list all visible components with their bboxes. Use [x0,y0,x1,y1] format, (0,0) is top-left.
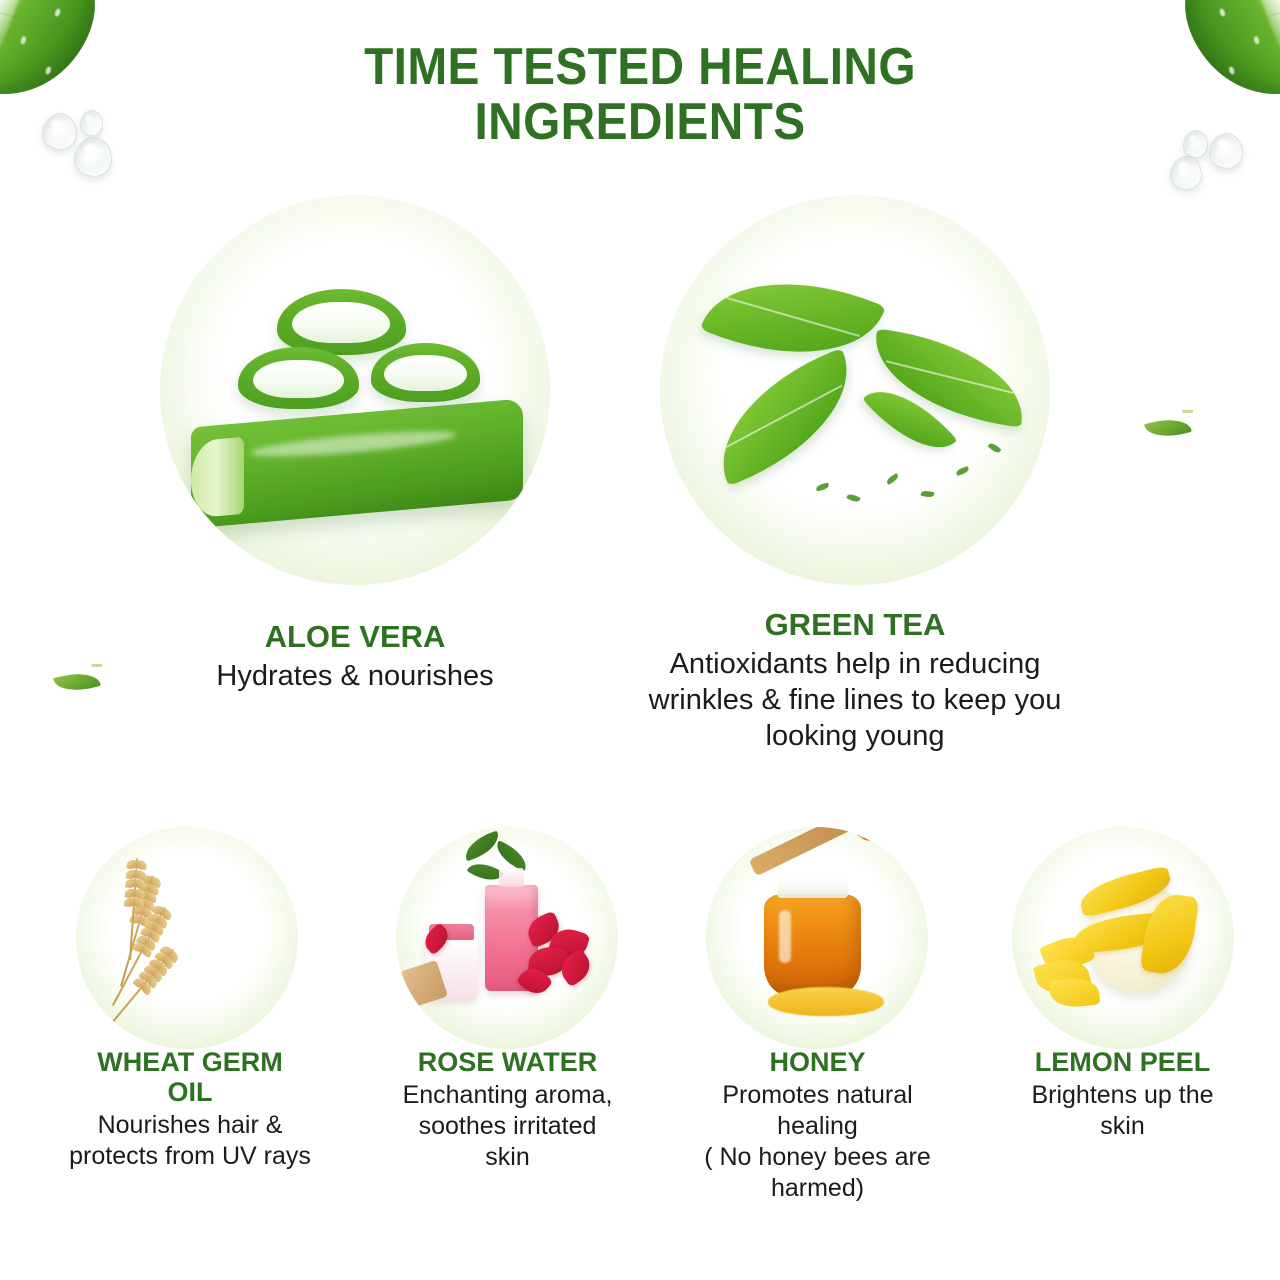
ingredient-caption-aloe-vera: ALOE VERA Hydrates & nourishes [150,620,560,695]
ingredient-description-aloe-vera: Hydrates & nourishes [150,659,560,695]
page-title-line-2: INGREDIENTS [51,95,1229,150]
water-droplet-icon [1170,156,1202,190]
ingredient-image-green-tea [660,195,1050,585]
honey-artwork [706,827,928,1049]
infographic-canvas: TIME TESTED HEALING INGREDIENTS ALOE VER… [0,0,1280,1280]
ingredient-description-green-tea: Antioxidants help in reducing wrinkles &… [640,647,1070,755]
ingredient-image-wheat-germ-oil [76,827,298,1049]
ingredient-image-honey [706,827,928,1049]
ingredient-name-rose-water: ROSE WATER [360,1047,655,1077]
ingredient-image-aloe-vera [160,195,550,585]
ingredient-caption-green-tea: GREEN TEA Antioxidants help in reducing … [640,608,1070,755]
leaf-icon-right [1144,412,1192,443]
ingredient-image-lemon-peel [1012,827,1234,1049]
rose-water-artwork [396,827,618,1049]
ingredient-description-honey: Promotes natural healing ( No honey bees… [660,1080,975,1204]
ingredient-caption-honey: HONEY Promotes natural healing ( No hone… [660,1047,975,1204]
ingredient-description-rose-water: Enchanting aroma, soothes irritated skin [360,1080,655,1173]
page-title: TIME TESTED HEALING INGREDIENTS [51,40,1229,150]
ingredient-name-aloe-vera: ALOE VERA [150,620,560,655]
wheat-artwork [76,827,298,1049]
page-title-line-1: TIME TESTED HEALING [51,40,1229,95]
ingredient-description-wheat-germ-oil: Nourishes hair & protects from UV rays [20,1110,360,1172]
aloe-vera-artwork [160,195,550,585]
lemon-artwork [1012,827,1234,1049]
ingredient-caption-wheat-germ-oil: WHEAT GERM OIL Nourishes hair & protects… [20,1047,360,1172]
ingredient-name-wheat-germ-oil: WHEAT GERM OIL [20,1047,360,1107]
ingredient-name-lemon-peel: LEMON PEEL [975,1047,1270,1077]
leaf-icon-left [53,666,101,697]
ingredient-name-honey: HONEY [660,1047,975,1077]
ingredient-description-lemon-peel: Brightens up the skin [975,1080,1270,1142]
ingredient-caption-rose-water: ROSE WATER Enchanting aroma, soothes irr… [360,1047,655,1173]
ingredient-name-green-tea: GREEN TEA [640,608,1070,643]
ingredient-caption-lemon-peel: LEMON PEEL Brightens up the skin [975,1047,1270,1142]
ingredient-image-rose-water [396,827,618,1049]
green-tea-artwork [660,195,1050,585]
